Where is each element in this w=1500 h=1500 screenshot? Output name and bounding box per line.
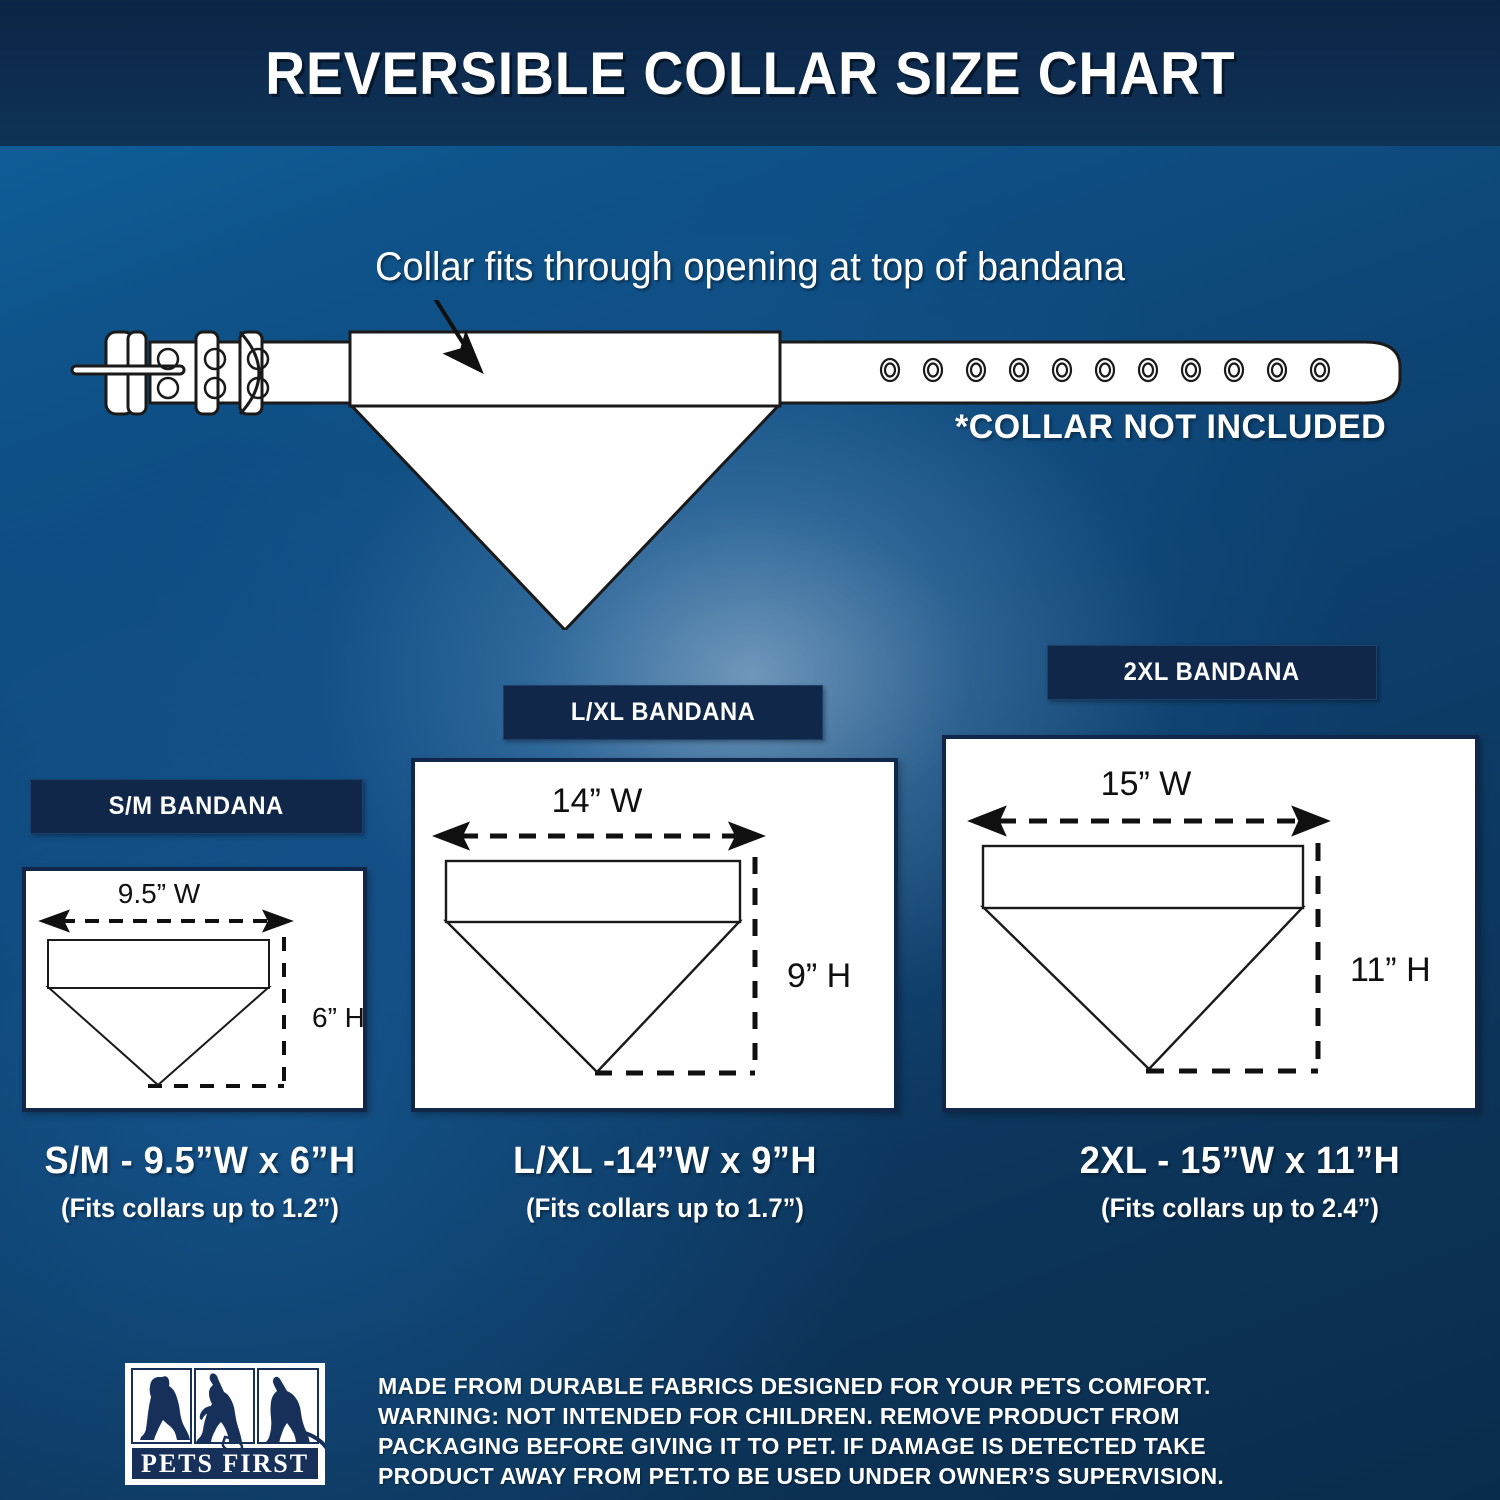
badge-sm-label: S/M BANDANA	[109, 792, 284, 821]
bandana-triangle-lxl	[446, 921, 740, 1072]
bandana-sleeve-2xl	[983, 846, 1303, 908]
size-chart-page: REVERSIBLE COLLAR SIZE CHART Collar fits…	[0, 0, 1500, 1500]
diagram-sm: 9.5” W 6” H	[26, 871, 363, 1108]
card-2xl: 15” W 11” H	[942, 735, 1479, 1112]
card-lxl: 14” W 9” H	[411, 758, 898, 1112]
badge-lxl: L/XL BANDANA	[503, 685, 823, 740]
caption-2xl-sub: (Fits collars up to 2.4”)	[1022, 1193, 1459, 1224]
diagram-lxl: 14” W 9” H	[415, 762, 894, 1108]
caption-sm-sub: (Fits collars up to 1.2”)	[20, 1193, 381, 1224]
bandana-sleeve-lxl	[446, 861, 740, 922]
caption-2xl-main: 2XL - 15”W x 11”H	[1022, 1140, 1459, 1183]
caption-2xl: 2XL - 15”W x 11”H (Fits collars up to 2.…	[1010, 1140, 1470, 1224]
header-bar: REVERSIBLE COLLAR SIZE CHART	[0, 0, 1500, 146]
collar-bandana-illustration	[0, 300, 1500, 630]
badge-lxl-label: L/XL BANDANA	[571, 698, 756, 727]
pets-first-logo: PETS FIRST	[125, 1363, 325, 1485]
bandana-sleeve	[350, 332, 780, 406]
diagram-2xl: 15” W 11” H	[946, 739, 1475, 1108]
badge-sm: S/M BANDANA	[30, 779, 363, 834]
footer-line-2: WARNING: NOT INTENDED FOR CHILDREN. REMO…	[378, 1401, 1387, 1431]
caption-sm-main: S/M - 9.5”W x 6”H	[20, 1140, 381, 1183]
bandana-triangle-2xl	[983, 907, 1303, 1069]
footer-disclaimer: MADE FROM DURABLE FABRICS DESIGNED FOR Y…	[378, 1371, 1408, 1491]
keeper-loop-1	[196, 332, 218, 414]
caption-lxl-main: L/XL -14”W x 9”H	[466, 1140, 865, 1183]
collar-not-included-note: *COLLAR NOT INCLUDED	[955, 408, 1386, 447]
footer-line-4: PRODUCT AWAY FROM PET.TO BE USED UNDER O…	[378, 1461, 1387, 1491]
badge-2xl-label: 2XL BANDANA	[1124, 658, 1300, 687]
height-label-lxl: 9” H	[787, 957, 851, 995]
logo-wordmark: PETS FIRST	[141, 1449, 309, 1478]
width-label-lxl: 14” W	[552, 782, 643, 820]
width-label-sm: 9.5” W	[118, 878, 201, 909]
bandana-sleeve-sm	[48, 940, 269, 988]
height-label-sm: 6” H	[312, 1002, 363, 1033]
bandana-triangle	[350, 404, 780, 630]
hero-caption: Collar fits through opening at top of ba…	[38, 245, 1463, 290]
caption-lxl-sub: (Fits collars up to 1.7”)	[466, 1193, 865, 1224]
bandana-triangle-sm	[48, 987, 269, 1085]
caption-lxl: L/XL -14”W x 9”H (Fits collars up to 1.7…	[455, 1140, 875, 1224]
height-label-2xl: 11” H	[1350, 951, 1431, 989]
footer-line-3: PACKAGING BEFORE GIVING IT TO PET. IF DA…	[378, 1431, 1387, 1461]
card-sm: 9.5” W 6” H	[22, 867, 367, 1112]
badge-2xl: 2XL BANDANA	[1047, 645, 1377, 700]
caption-sm: S/M - 9.5”W x 6”H (Fits collars up to 1.…	[10, 1140, 390, 1224]
width-label-2xl: 15” W	[1101, 765, 1192, 803]
footer-line-1: MADE FROM DURABLE FABRICS DESIGNED FOR Y…	[378, 1371, 1387, 1401]
page-title: REVERSIBLE COLLAR SIZE CHART	[265, 39, 1235, 108]
